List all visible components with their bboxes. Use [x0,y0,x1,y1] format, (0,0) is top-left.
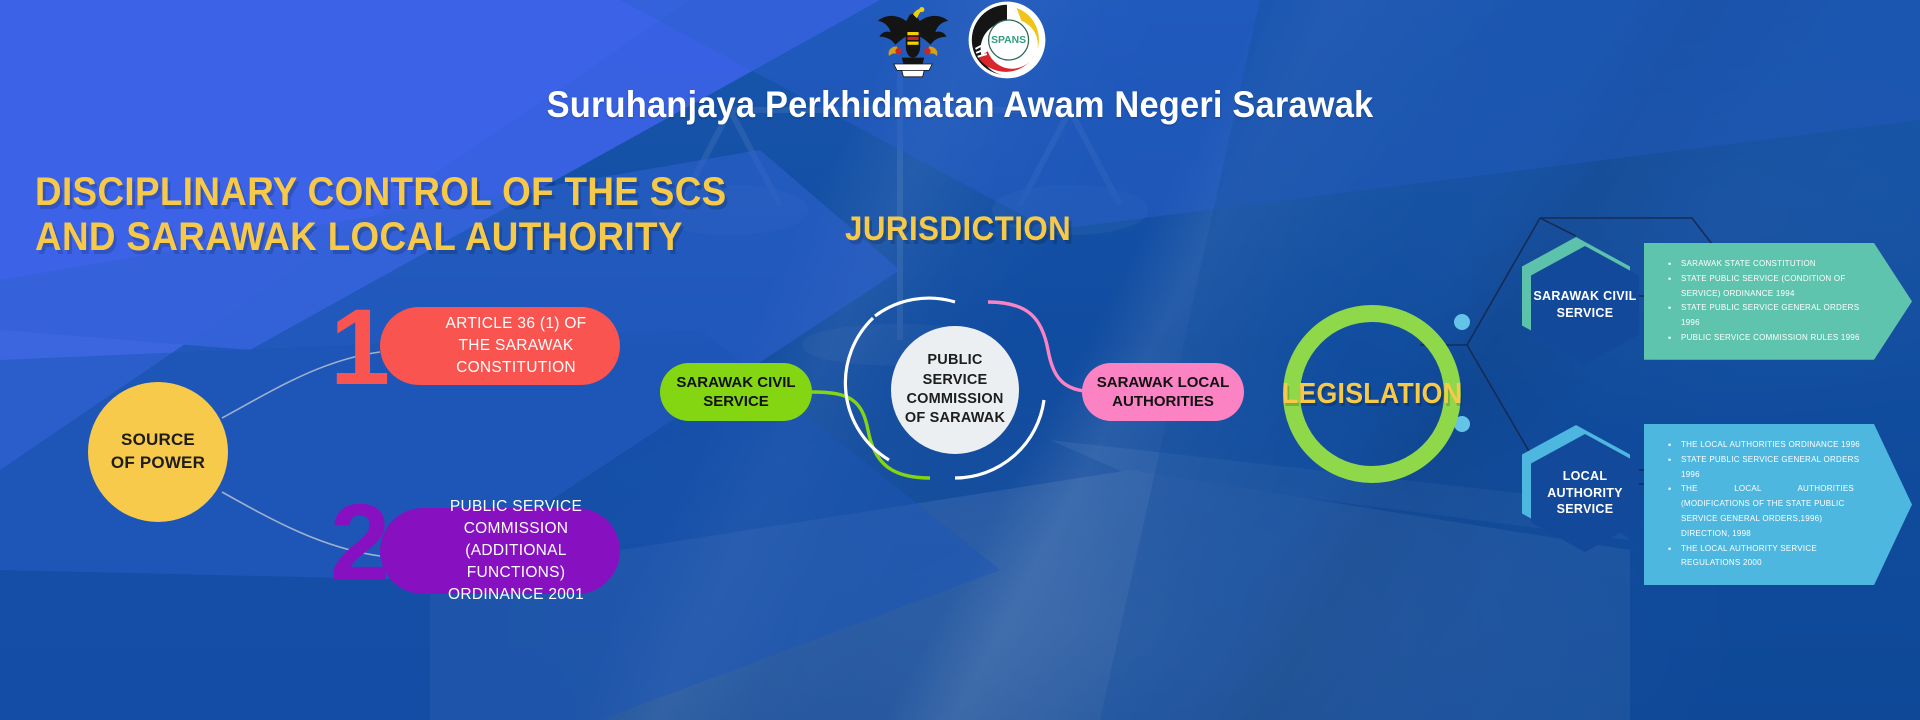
source-item-2-label: PUBLIC SERVICE COMMISSION (ADDITIONAL FU… [380,508,620,594]
legislation-panel-civil-service: SARAWAK STATE CONSTITUTION STATE PUBLIC … [1644,243,1912,360]
legislation-branch-civil-service-node[interactable]: SARAWAK CIVIL SERVICE [1522,237,1630,355]
sarawak-state-crest-icon [873,0,953,80]
source-item-1-label: ARTICLE 36 (1) OF THE SARAWAK CONSTITUTI… [380,307,620,385]
logo-row: SPANS [0,0,1920,82]
list-item: PUBLIC SERVICE COMMISSION RULES 1996 [1666,331,1860,346]
infographic-canvas: SPANS Suruhanjaya Perkhidmatan Awam Nege… [0,0,1920,720]
legislation-node[interactable]: LEGISLATION [1283,305,1461,483]
source-item-2-number: 2 [330,488,386,596]
list-item: SARAWAK STATE CONSTITUTION [1666,257,1860,272]
page-title: DISCIPLINARY CONTROL OF THE SCS AND SARA… [35,170,727,260]
list-item: STATE PUBLIC SERVICE GENERAL ORDERS 1996 [1666,301,1860,331]
legislation-panel-local-authority: THE LOCAL AUTHORITIES ORDINANCE 1996 STA… [1644,424,1912,585]
source-item-1[interactable]: 1 ARTICLE 36 (1) OF THE SARAWAK CONSTITU… [330,307,620,387]
list-item: THE LOCAL AUTHORITY SERVICE REGULATIONS … [1666,542,1860,572]
page-header: SPANS Suruhanjaya Perkhidmatan Awam Nege… [0,0,1920,130]
list-item: THE LOCAL AUTHORITIES (MODIFICATIONS OF … [1666,482,1860,512]
jurisdiction-heading: JURISDICTION [845,210,1071,249]
list-item: THE LOCAL AUTHORITIES ORDINANCE 1996 [1666,438,1860,453]
source-of-power-line2: OF POWER [111,452,205,475]
spans-logo-text: SPANS [991,35,1026,46]
legislation-label: LEGISLATION [1282,378,1462,411]
source-item-2[interactable]: 2 PUBLIC SERVICE COMMISSION (ADDITIONAL … [330,508,620,594]
legislation-branch-local-authority-node[interactable]: LOCAL AUTHORITY SERVICE [1522,425,1630,543]
jurisdiction-centre: PUBLIC SERVICE COMMISSION OF SARAWAK [865,300,1045,480]
source-item-1-number: 1 [330,293,386,401]
list-item: STATE PUBLIC SERVICE (CONDITION OF SERVI… [1666,272,1860,302]
legislation-list-civil-service: SARAWAK STATE CONSTITUTION STATE PUBLIC … [1666,257,1860,346]
legislation-list-local-authority: THE LOCAL AUTHORITIES ORDINANCE 1996 STA… [1666,438,1860,571]
list-item-continuation: SERVICE GENERAL ORDERS,1996) DIRECTION, … [1666,512,1860,542]
jurisdiction-node-civil-service[interactable]: SARAWAK CIVIL SERVICE [660,363,812,421]
jurisdiction-centre-label[interactable]: PUBLIC SERVICE COMMISSION OF SARAWAK [891,326,1019,454]
source-of-power-node[interactable]: SOURCE OF POWER [88,382,228,522]
spans-logo-icon: SPANS [967,0,1047,80]
list-item: STATE PUBLIC SERVICE GENERAL ORDERS 1996 [1666,453,1860,483]
source-of-power-line1: SOURCE [121,429,195,452]
jurisdiction-node-local-authorities[interactable]: SARAWAK LOCAL AUTHORITIES [1082,363,1244,421]
organisation-title: Suruhanjaya Perkhidmatan Awam Negeri Sar… [67,86,1853,123]
